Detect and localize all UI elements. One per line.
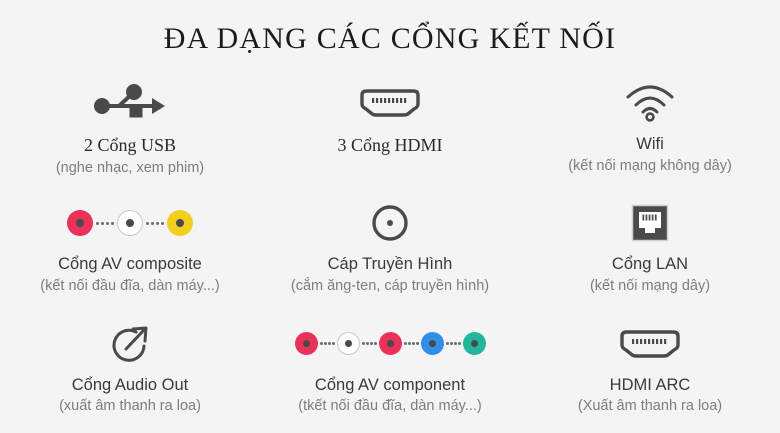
hdmi-arc-icon	[616, 319, 684, 369]
port-card-lan: Cổng LAN (kết nối mạng dây)	[520, 192, 780, 312]
rca-connector-red-2	[379, 332, 402, 355]
rca-component-icon	[295, 319, 486, 369]
port-label: Wifi	[636, 134, 664, 155]
audio-out-icon	[109, 319, 151, 369]
page-title: ĐA DẠNG CÁC CỔNG KẾT NỐI	[0, 0, 780, 54]
port-label: HDMI ARC	[610, 375, 691, 396]
hdmi-port-icon	[356, 78, 424, 128]
port-sublabel: (cắm ăng-ten, cáp truyền hình)	[291, 277, 489, 296]
port-label: Cổng LAN	[612, 254, 688, 275]
port-sublabel: (xuất âm thanh ra loa)	[59, 397, 201, 416]
lan-port-icon	[631, 198, 669, 248]
port-sublabel: (kết nối đầu đĩa, dàn máy...)	[40, 277, 219, 296]
port-sublabel: (nghe nhạc, xem phim)	[56, 159, 204, 178]
ports-grid: 2 Cổng USB (nghe nhạc, xem phim)	[0, 72, 780, 433]
rca-connector-red	[67, 210, 93, 236]
cable-dots	[404, 342, 419, 345]
port-card-coaxial: Cáp Truyền Hình (cắm ăng-ten, cáp truyền…	[260, 192, 520, 312]
port-card-audio-out: Cổng Audio Out (xuất âm thanh ra loa)	[0, 313, 260, 433]
cable-dots	[320, 342, 335, 345]
rca-connector-blue	[421, 332, 444, 355]
cable-dots	[96, 222, 114, 225]
cable-dots	[146, 222, 164, 225]
port-sublabel: (tkết nối đầu đĩa, dàn máy...)	[298, 397, 482, 416]
coaxial-icon	[370, 198, 410, 248]
rca-connector-red	[295, 332, 318, 355]
port-card-av-composite: Cổng AV composite (kết nối đầu đĩa, dàn …	[0, 192, 260, 312]
rca-connector-white	[337, 332, 360, 355]
port-card-wifi: Wifi (kết nối mạng không dây)	[520, 72, 780, 192]
port-card-usb: 2 Cổng USB (nghe nhạc, xem phim)	[0, 72, 260, 192]
wifi-icon	[624, 78, 676, 128]
usb-icon	[93, 78, 167, 128]
port-card-av-component: Cổng AV component (tkết nối đầu đĩa, dàn…	[260, 313, 520, 433]
port-sublabel: (Xuất âm thanh ra loa)	[578, 397, 722, 416]
cable-dots	[446, 342, 461, 345]
port-label: Cổng AV composite	[58, 254, 202, 275]
port-card-hdmi: 3 Cổng HDMI	[260, 72, 520, 192]
port-label: 2 Cổng USB	[84, 134, 176, 157]
rca-composite-icon	[67, 198, 193, 248]
rca-connector-white	[117, 210, 143, 236]
port-sublabel: (kết nối mạng dây)	[590, 277, 710, 296]
port-label: Cổng AV component	[315, 375, 465, 396]
rca-connector-yellow	[167, 210, 193, 236]
cable-dots	[362, 342, 377, 345]
rca-connector-green	[463, 332, 486, 355]
port-label: Cổng Audio Out	[72, 375, 189, 396]
port-sublabel: (kết nối mạng không dây)	[568, 157, 732, 176]
port-card-hdmi-arc: HDMI ARC (Xuất âm thanh ra loa)	[520, 313, 780, 433]
port-label: Cáp Truyền Hình	[328, 254, 453, 275]
port-label: 3 Cổng HDMI	[337, 134, 442, 157]
